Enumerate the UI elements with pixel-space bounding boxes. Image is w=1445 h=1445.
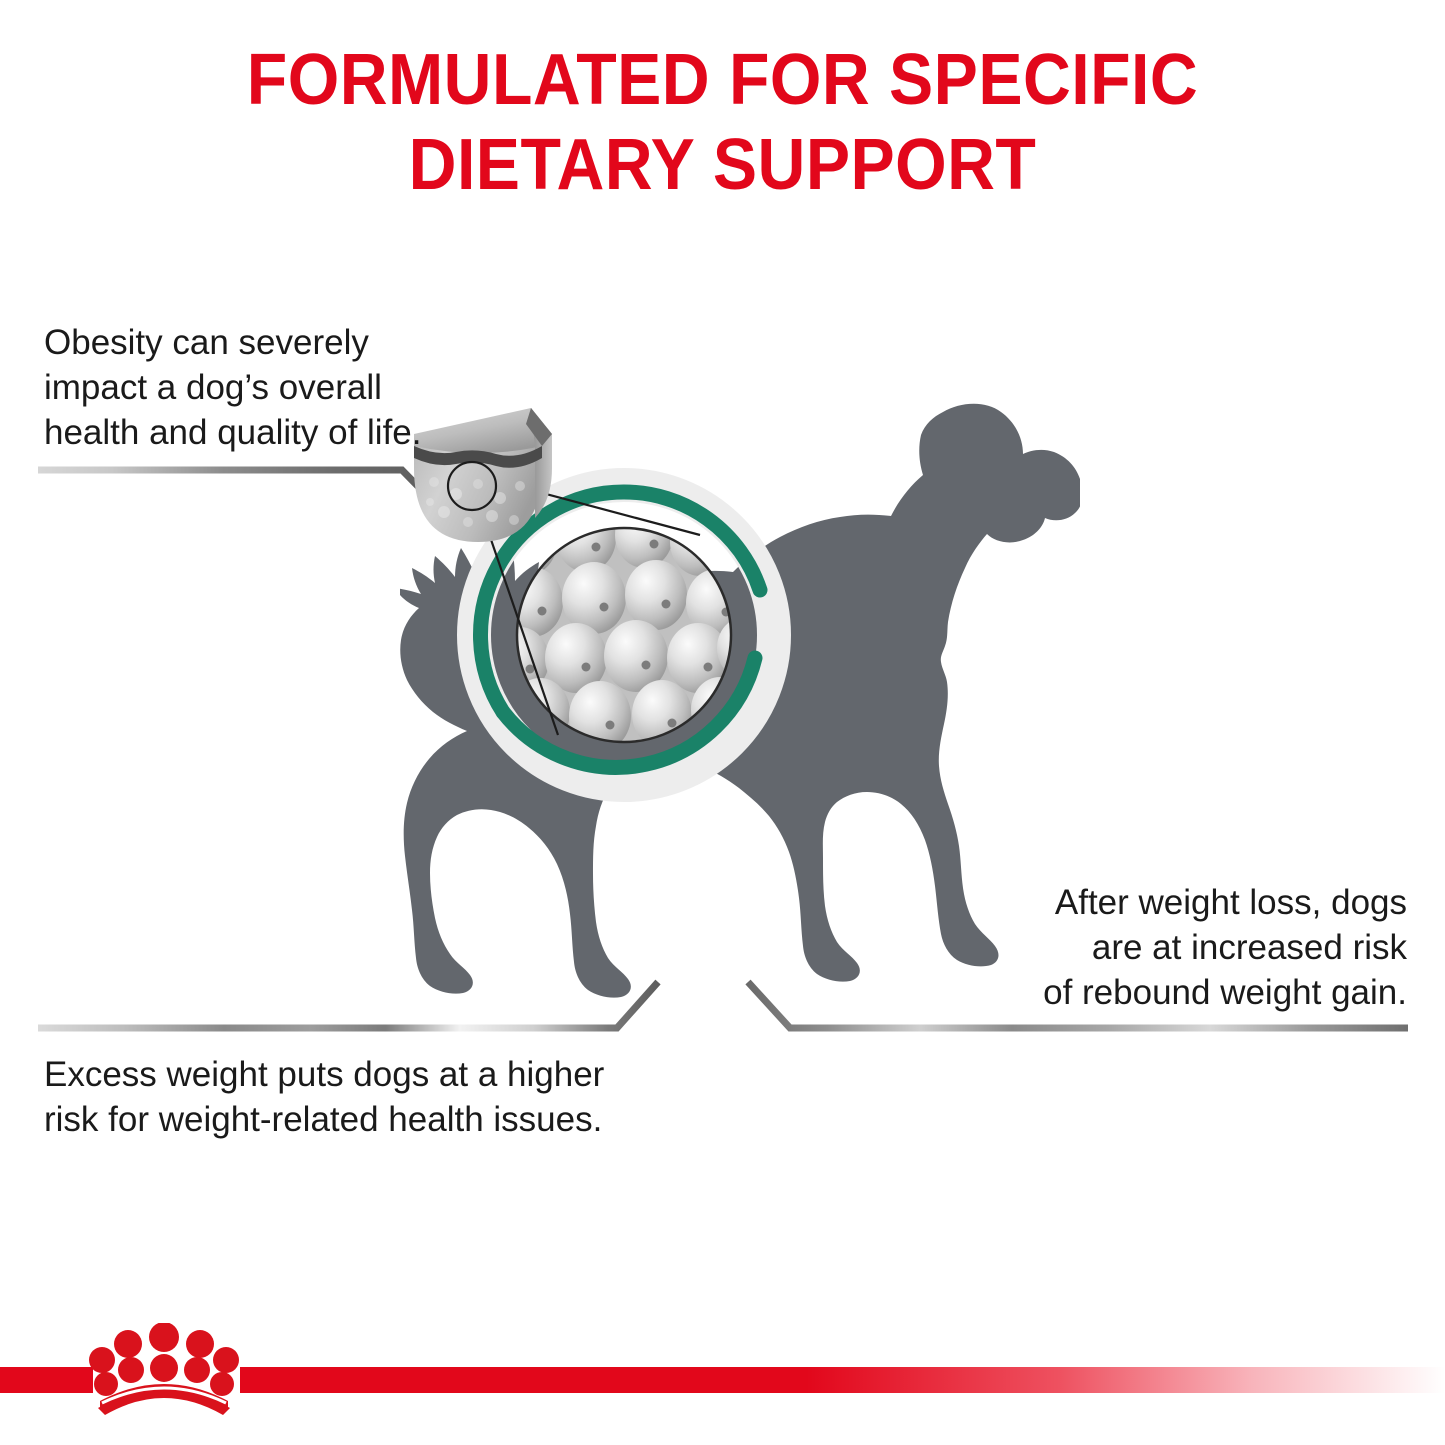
callout-top-left-line-3: health and quality of life. <box>44 410 484 455</box>
callout-bottom-left: Excess weight puts dogs at a higher risk… <box>44 1052 744 1142</box>
connector-top-left <box>38 470 447 516</box>
page-title-line-2: DIETARY SUPPORT <box>168 123 1277 208</box>
callout-right-line-3: of rebound weight gain. <box>967 970 1407 1015</box>
footer-bar-left-segment <box>0 1367 93 1393</box>
callout-top-left-line-2: impact a dog’s overall <box>44 365 484 410</box>
callout-right: After weight loss, dogs are at increased… <box>967 880 1407 1015</box>
callout-right-line-2: are at increased risk <box>967 925 1407 970</box>
footer-bar-right-segment <box>240 1367 1445 1393</box>
callout-bottom-left-line-2: risk for weight-related health issues. <box>44 1097 744 1142</box>
callout-top-left-line-1: Obesity can severely <box>44 320 484 365</box>
crown-icon <box>89 1323 239 1415</box>
royal-canin-crown-logo <box>88 1323 240 1415</box>
callout-right-line-1: After weight loss, dogs <box>967 880 1407 925</box>
page-title-line-1: FORMULATED FOR SPECIFIC <box>168 38 1277 123</box>
poster-canvas: FORMULATED FOR SPECIFIC DIETARY SUPPORT <box>0 0 1445 1445</box>
callout-top-left: Obesity can severely impact a dog’s over… <box>44 320 484 455</box>
page-title: FORMULATED FOR SPECIFIC DIETARY SUPPORT <box>120 38 1325 208</box>
callout-bottom-left-line-1: Excess weight puts dogs at a higher <box>44 1052 744 1097</box>
